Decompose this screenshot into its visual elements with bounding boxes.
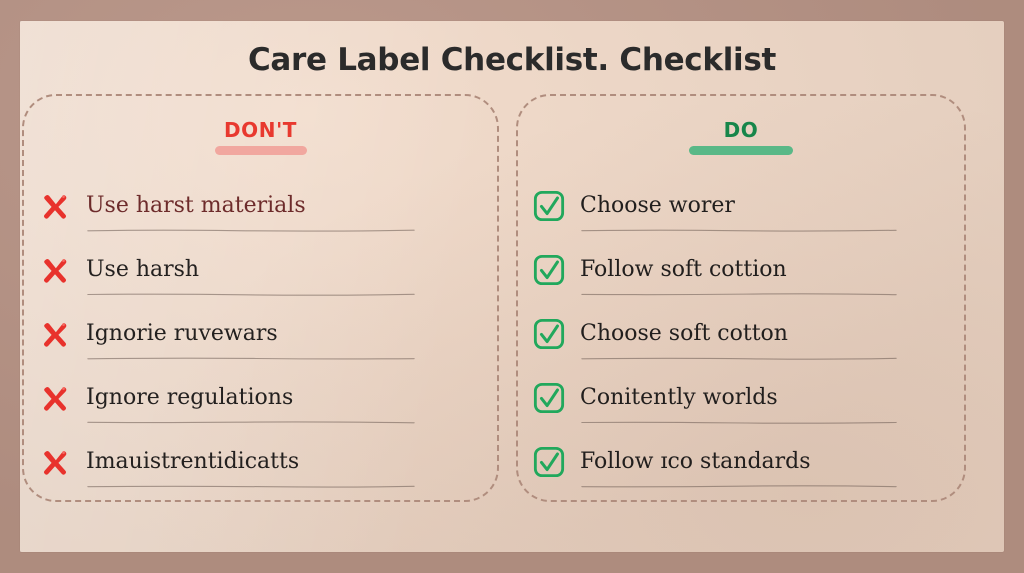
green-checkbox-icon <box>518 446 580 478</box>
handdrawn-underline <box>580 485 898 488</box>
list-item-label: Choose soft cotton <box>580 323 788 345</box>
checklist-panels: DON'T Use harst materials <box>0 0 984 531</box>
dont-header-label: DON'T <box>224 118 297 142</box>
list-item[interactable]: Follow soft cottion <box>518 238 964 302</box>
red-x-icon <box>24 445 86 479</box>
list-item[interactable]: Choose soft cotton <box>518 302 964 366</box>
list-item-label: Ignorie ruvewars <box>86 323 278 345</box>
list-item-label: Conitently worlds <box>580 387 778 409</box>
green-checkbox-icon <box>518 382 580 414</box>
do-panel-header: DO <box>518 118 964 155</box>
dont-panel: DON'T Use harst materials <box>22 94 499 502</box>
handdrawn-underline <box>580 293 898 296</box>
list-item[interactable]: Use harsh <box>24 238 497 302</box>
do-header-underline-bar <box>689 146 793 155</box>
list-item-label: Choose worer <box>580 195 735 217</box>
dont-header-underline-bar <box>215 146 307 155</box>
red-x-icon <box>24 381 86 415</box>
list-item-label: Follow ɪcᴏ standards <box>580 451 811 473</box>
do-header-label: DO <box>724 118 759 142</box>
poster-root: Care Label Checklist. Checklist DON'T Us… <box>0 0 1024 573</box>
handdrawn-underline <box>86 357 416 360</box>
list-item-label: Follow soft cottion <box>580 259 787 281</box>
dont-panel-header: DON'T <box>24 118 497 155</box>
list-item[interactable]: Imauistrentidicatts <box>24 430 497 494</box>
page-title: Care Label Checklist. Checklist <box>0 42 1024 78</box>
red-x-icon <box>24 253 86 287</box>
handdrawn-underline <box>580 421 898 424</box>
dont-item-list: Use harst materials Use harsh <box>24 174 497 494</box>
handdrawn-underline <box>580 229 898 232</box>
handdrawn-underline <box>86 293 416 296</box>
list-item[interactable]: Conitently worlds <box>518 366 964 430</box>
list-item-label: Use harst materials <box>86 195 306 217</box>
red-x-icon <box>24 317 86 351</box>
handdrawn-underline <box>86 485 416 488</box>
list-item-label: Imauistrentidicatts <box>86 451 299 473</box>
list-item[interactable]: Follow ɪcᴏ standards <box>518 430 964 494</box>
list-item[interactable]: Use harst materials <box>24 174 497 238</box>
list-item[interactable]: Ignore regulations <box>24 366 497 430</box>
list-item[interactable]: Choose worer <box>518 174 964 238</box>
list-item-label: Use harsh <box>86 259 199 281</box>
handdrawn-underline <box>580 357 898 360</box>
do-item-list: Choose worer Follow soft cotti <box>518 174 964 494</box>
list-item-label: Ignore regulations <box>86 387 293 409</box>
handdrawn-underline <box>86 421 416 424</box>
green-checkbox-icon <box>518 318 580 350</box>
do-panel: DO Choose worer <box>516 94 966 502</box>
green-checkbox-icon <box>518 254 580 286</box>
list-item[interactable]: Ignorie ruvewars <box>24 302 497 366</box>
green-checkbox-icon <box>518 190 580 222</box>
handdrawn-underline <box>86 229 416 232</box>
red-x-icon <box>24 189 86 223</box>
